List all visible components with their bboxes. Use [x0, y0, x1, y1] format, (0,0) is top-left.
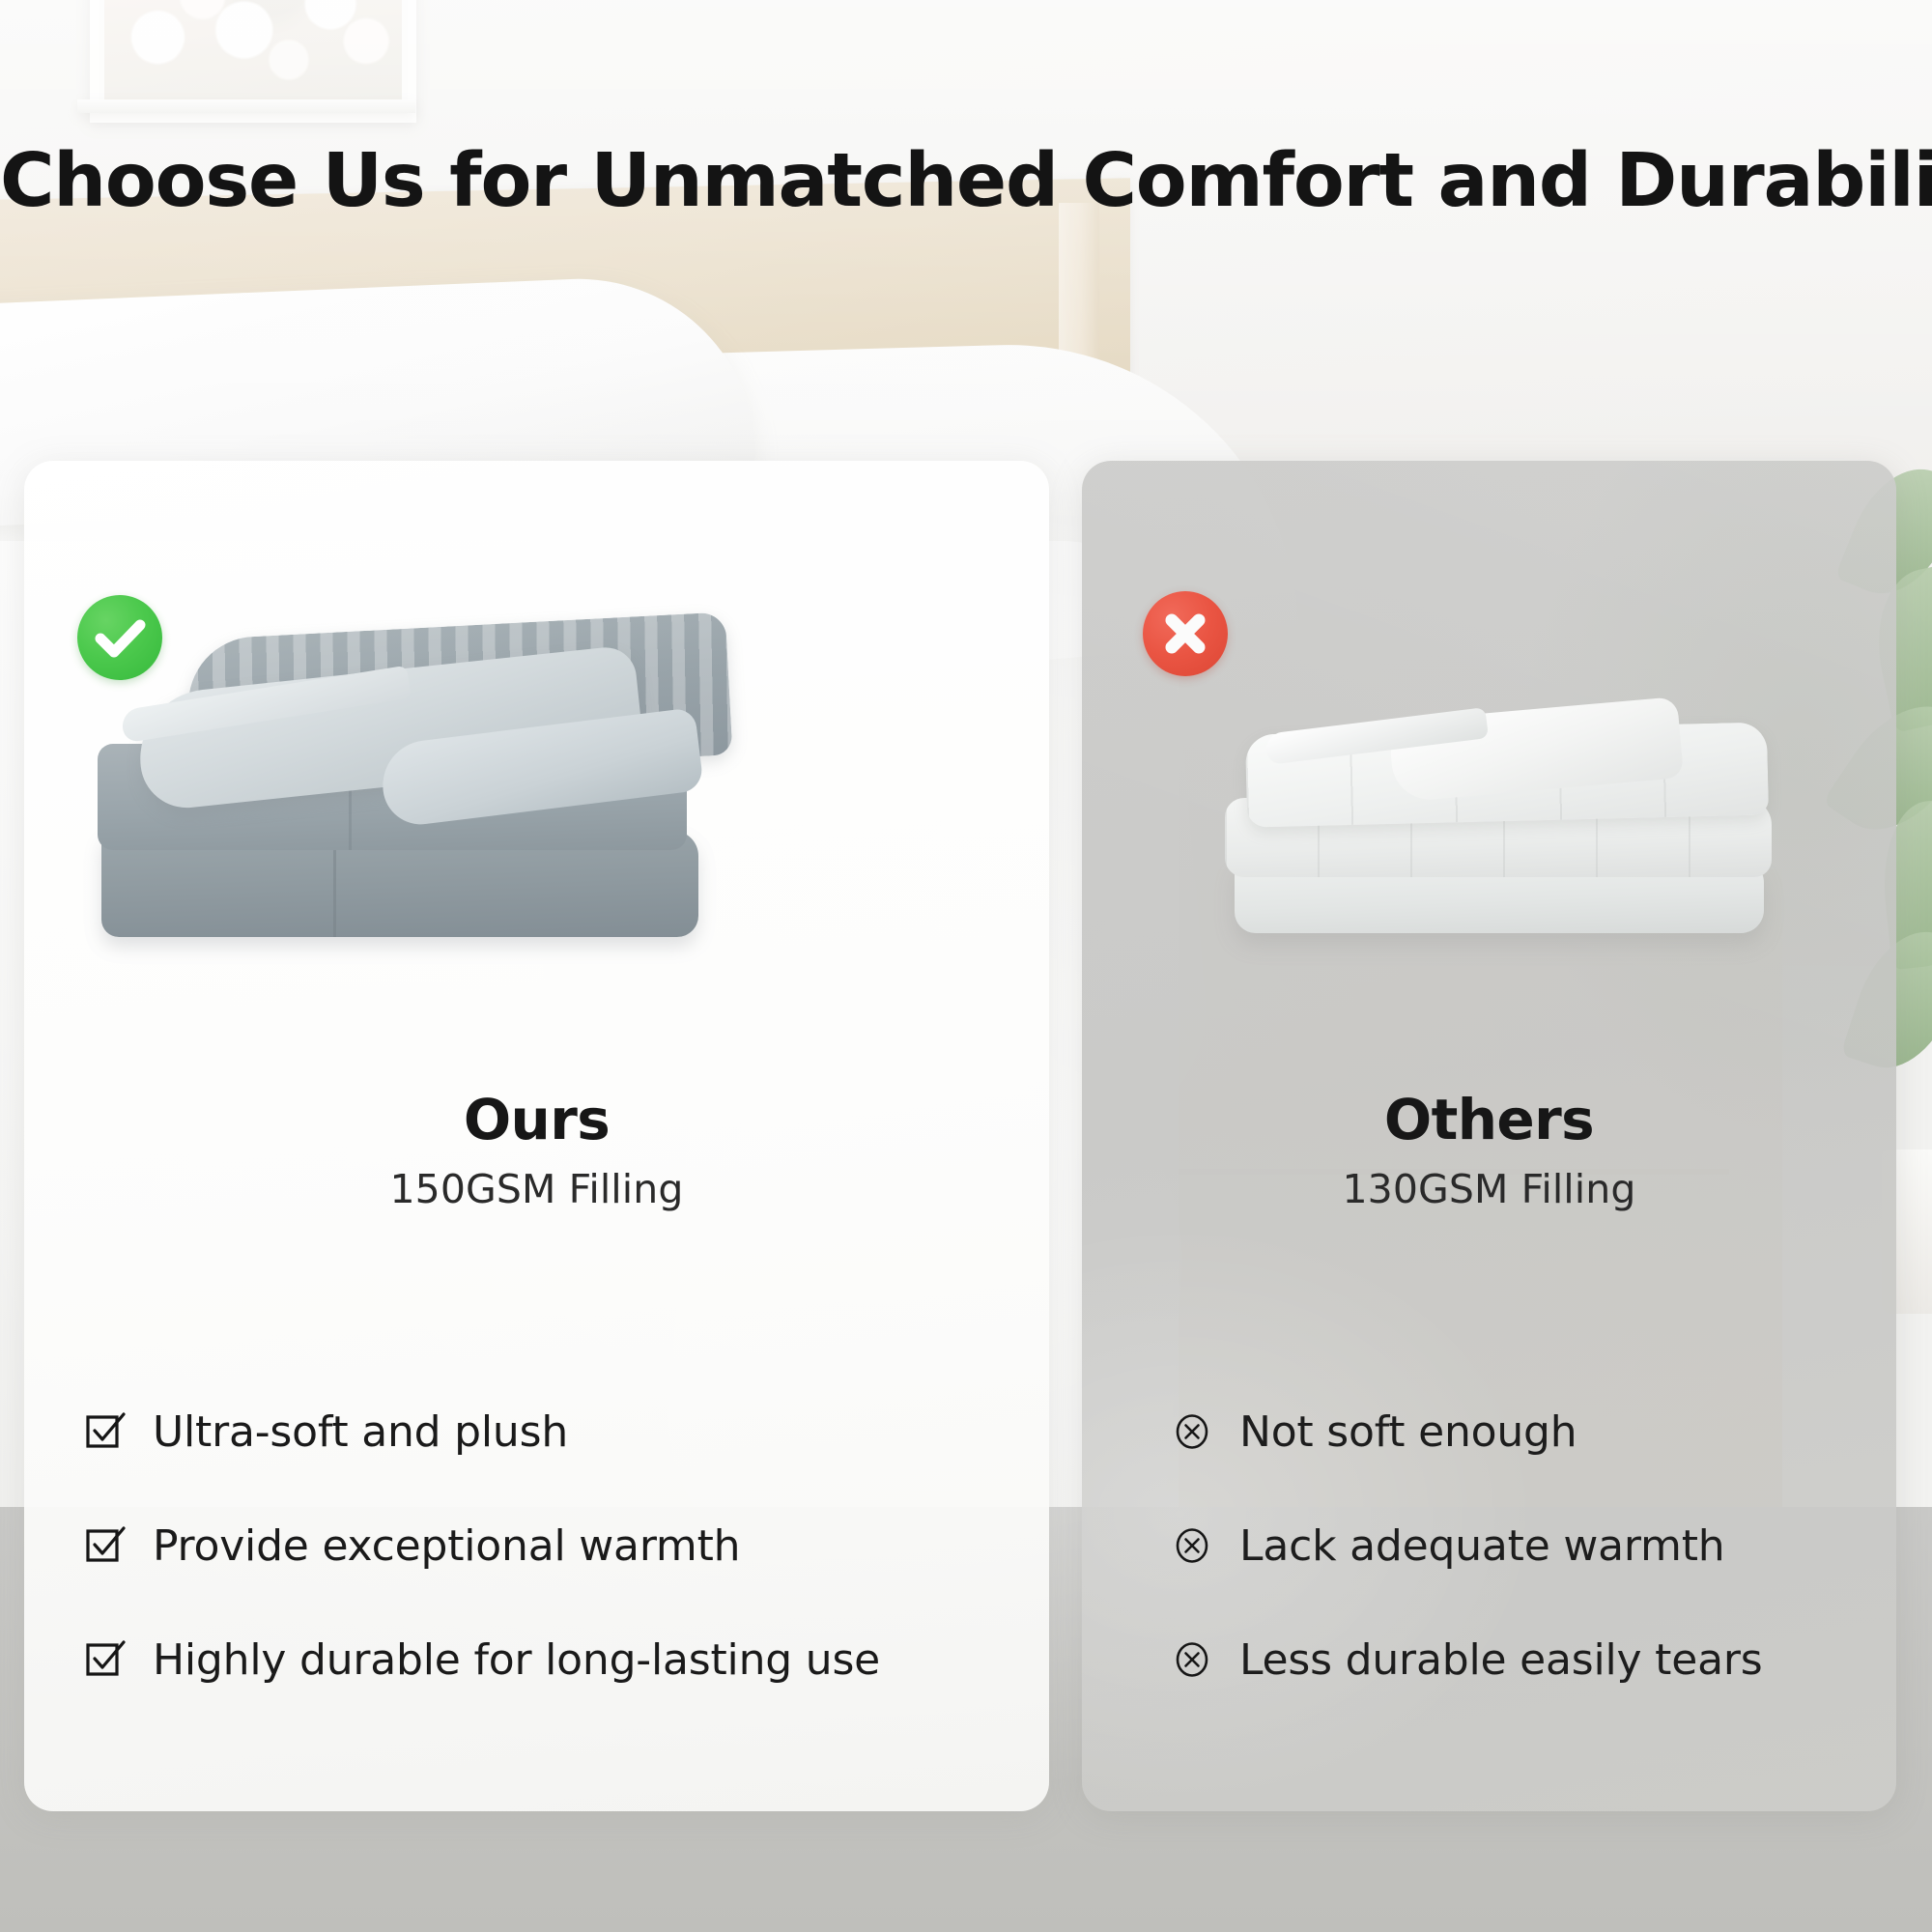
checked-checkbox-icon: [85, 1525, 126, 1566]
list-item: Highly durable for long-lasting use: [85, 1603, 993, 1717]
circle-x-icon: [1172, 1639, 1212, 1680]
list-item-label: Ultra-soft and plush: [153, 1407, 568, 1457]
list-item: Not soft enough: [1172, 1375, 1867, 1489]
list-item-label: Not soft enough: [1239, 1407, 1577, 1457]
product-image-ours: [92, 638, 729, 956]
checked-checkbox-icon: [85, 1411, 126, 1452]
red-x-circle-icon: [1143, 591, 1228, 676]
circle-x-icon: [1172, 1525, 1212, 1566]
circle-x-icon: [1172, 1411, 1212, 1452]
card-subtitle-others: 130GSM Filling: [1082, 1166, 1896, 1212]
list-item: Ultra-soft and plush: [85, 1375, 993, 1489]
checked-checkbox-icon: [85, 1639, 126, 1680]
card-title-others: Others: [1082, 1087, 1896, 1152]
infographic-canvas: Choose Us for Unmatched Comfort and Dura…: [0, 0, 1932, 1932]
comparison-cards: Ours 150GSM Filling Ultra-soft and plush: [0, 0, 1932, 1932]
card-subtitle-ours: 150GSM Filling: [24, 1166, 1049, 1212]
list-item-label: Less durable easily tears: [1239, 1635, 1762, 1685]
product-image-others: [1207, 715, 1806, 956]
green-check-circle-icon: [77, 595, 162, 680]
list-item-label: Lack adequate warmth: [1239, 1521, 1724, 1571]
list-item-label: Highly durable for long-lasting use: [153, 1635, 880, 1685]
feature-list-others: Not soft enough Lack adequate warmth: [1172, 1375, 1867, 1717]
page-title: Choose Us for Unmatched Comfort and Dura…: [0, 138, 1932, 224]
card-title-ours: Ours: [24, 1087, 1049, 1152]
feature-list-ours: Ultra-soft and plush Provide exceptional…: [85, 1375, 993, 1717]
list-item: Provide exceptional warmth: [85, 1489, 993, 1603]
list-item-label: Provide exceptional warmth: [153, 1521, 740, 1571]
list-item: Lack adequate warmth: [1172, 1489, 1867, 1603]
list-item: Less durable easily tears: [1172, 1603, 1867, 1717]
